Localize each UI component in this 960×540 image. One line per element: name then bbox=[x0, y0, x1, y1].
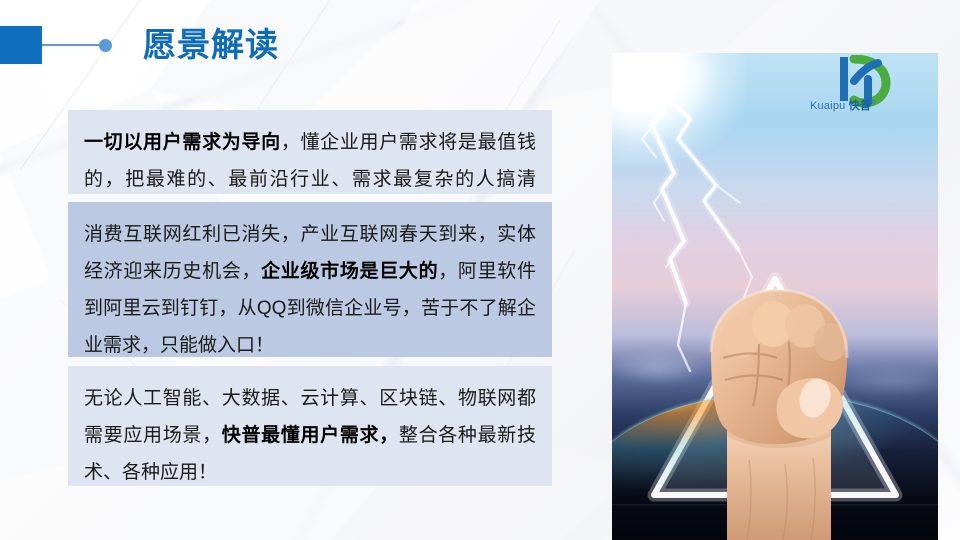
text-segment: 一切以用户需求为导向 bbox=[84, 132, 281, 153]
content-box-3: 无论人工智能、大数据、云计算、区块链、物联网都需要应用场景，快普最懂用户需求，整… bbox=[68, 366, 552, 486]
header-connector-line bbox=[42, 44, 104, 46]
content-box-1: 一切以用户需求为导向，懂企业用户需求将是最值钱的，把最难的、最前沿行业、需求最复… bbox=[68, 110, 552, 194]
logo-wordmark: Kuaipu 快普® bbox=[810, 97, 928, 113]
text-segment: 快普最懂用户需求， bbox=[222, 425, 399, 446]
header-square-marker bbox=[0, 26, 42, 64]
logo-registered: ® bbox=[871, 100, 876, 106]
header-bullet-dot-icon bbox=[99, 39, 112, 52]
slide-root: 愿景解读 一切以用户需求为导向，懂企业用户需求将是最值钱的，把最难的、最前沿行业… bbox=[0, 0, 960, 540]
text-segment: 企业级市场是巨大的 bbox=[261, 261, 438, 282]
page-title: 愿景解读 bbox=[143, 26, 279, 64]
hero-photo: Kuaipu 快普® bbox=[612, 53, 938, 540]
content-box-2: 消费互联网红利已消失，产业互联网春天到来，实体经济迎来历史机会，企业级市场是巨大… bbox=[68, 202, 552, 357]
logo-chinese: 快普 bbox=[849, 100, 871, 112]
logo-latin: Kuaipu bbox=[810, 100, 845, 112]
clenched-fist-icon bbox=[665, 240, 885, 540]
